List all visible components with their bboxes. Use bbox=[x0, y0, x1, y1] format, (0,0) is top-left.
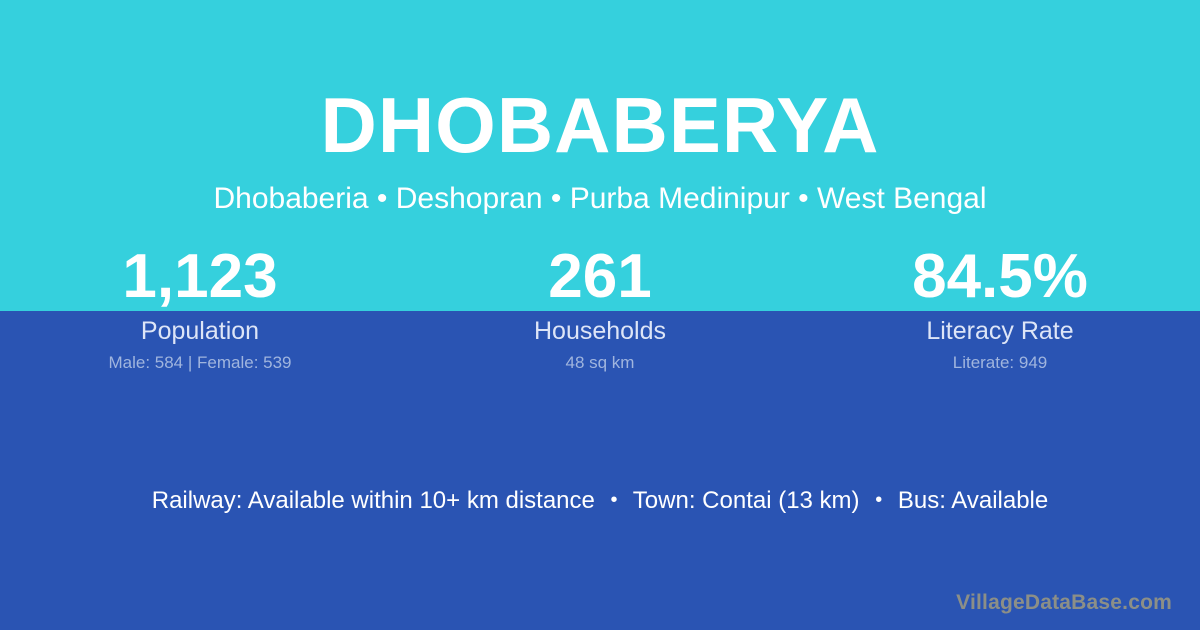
connectivity-line: Railway: Available within 10+ km distanc… bbox=[0, 484, 1200, 517]
stat-population: 1,123 Population Male: 584 | Female: 539 bbox=[0, 243, 400, 388]
breadcrumb: Dhobaberia • Deshopran • Purba Medinipur… bbox=[0, 180, 1200, 218]
stat-literacy-rate-value: 84.5% bbox=[800, 243, 1200, 311]
stat-households: 261 Households 48 sq km bbox=[400, 243, 800, 388]
stat-households-value: 261 bbox=[400, 243, 800, 311]
connectivity-town: Town: Contai (13 km) bbox=[633, 487, 860, 514]
connectivity-separator-1: • bbox=[602, 484, 627, 516]
stat-literacy-rate-sub: Literate: 949 bbox=[800, 351, 1200, 375]
village-info-card: DHOBABERYA Dhobaberia • Deshopran • Purb… bbox=[0, 0, 1200, 630]
stat-literacy-rate: 84.5% Literacy Rate Literate: 949 bbox=[800, 243, 1200, 388]
stat-households-label: Households bbox=[400, 315, 800, 347]
stats-row: 1,123 Population Male: 584 | Female: 539… bbox=[0, 243, 1200, 388]
connectivity-separator-2: • bbox=[866, 484, 891, 516]
connectivity-railway: Railway: Available within 10+ km distanc… bbox=[152, 487, 595, 514]
stat-population-sub: Male: 584 | Female: 539 bbox=[0, 351, 400, 375]
stat-population-value: 1,123 bbox=[0, 243, 400, 311]
stat-population-label: Population bbox=[0, 315, 400, 347]
stat-literacy-rate-label: Literacy Rate bbox=[800, 315, 1200, 347]
stat-households-sub: 48 sq km bbox=[400, 351, 800, 375]
site-brand-watermark: VillageDataBase.com bbox=[956, 589, 1172, 617]
page-title: DHOBABERYA bbox=[0, 77, 1200, 173]
connectivity-bus: Bus: Available bbox=[898, 487, 1048, 514]
